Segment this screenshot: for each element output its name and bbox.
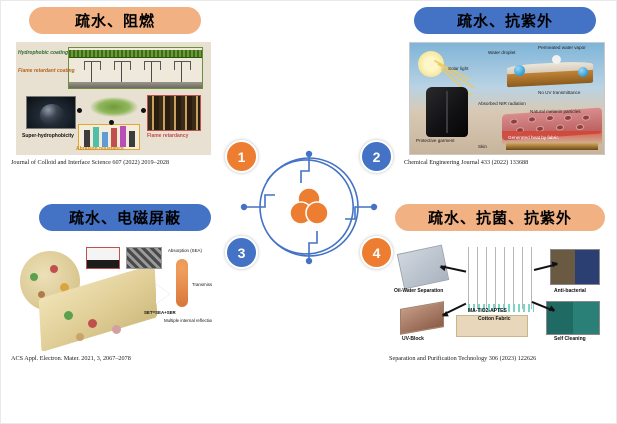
tr-label-generated-heat-by-fabric: Generated heat by fabric <box>508 136 559 141</box>
slide-canvas: 疏水、阻燃 Hydrophobic coating Flame retardan… <box>0 0 617 424</box>
tr-label-skin: Skin <box>478 145 487 150</box>
bl-sem-photo <box>126 247 162 269</box>
tl-label-super-hydrophobicity: Super-hydrophobicity <box>22 134 74 139</box>
br-label-material-name: MA-TiO2-APTES <box>468 309 507 314</box>
tr-melanin-particle <box>556 124 564 131</box>
citation-top-left: Journal of Colloid and Interface Science… <box>11 159 221 166</box>
tr-melanin-particle <box>528 116 536 123</box>
br-label-anti-bacterial: Anti-bacterial <box>554 289 586 294</box>
tl-chart-bar <box>111 128 117 147</box>
bl-process-arrow-icon <box>156 284 170 304</box>
br-label-uv-block: UV-Block <box>402 337 424 342</box>
panel-top-left: 疏水、阻燃 Hydrophobic coating Flame retardan… <box>11 7 221 202</box>
br-label-self-cleaning: Self Cleaning <box>554 337 586 342</box>
hub-number-badge-4[interactable]: 4 <box>360 236 393 269</box>
tl-coating-schematic <box>68 47 203 89</box>
panel-title-badge-top-left: 疏水、阻燃 <box>29 7 201 34</box>
hub-node-dot-bottom <box>306 258 312 264</box>
tl-molecule-icon <box>151 62 152 82</box>
tr-label-absorbed-nir-radiation: Absorbed NIR radiation <box>478 102 526 107</box>
citation-bottom-left: ACS Appl. Electron. Mater. 2021, 3, 2067… <box>11 355 221 362</box>
bl-label-multiple-internal-reflection: Multiple internal reflection <box>164 319 212 323</box>
tr-melanin-particle <box>582 114 590 121</box>
br-molecular-structure <box>468 247 534 309</box>
tl-molecule-icon <box>181 62 182 82</box>
hub-connector-right <box>345 207 373 219</box>
tl-label-flame-retardant-coating: Flame retardant coating <box>18 69 75 74</box>
tl-water-droplet-photo <box>26 96 76 129</box>
br-label-oil-water-separation: Oil-Water Separation <box>394 289 443 294</box>
tl-chart-bar <box>102 132 108 147</box>
bl-shielding-stack <box>176 259 188 307</box>
bl-contact-angle-photo <box>86 247 120 269</box>
tl-substrate-layer <box>69 82 202 88</box>
br-label-material-substrate: Cotton Fabric <box>478 317 511 322</box>
tl-link-node <box>141 108 146 113</box>
panel-bottom-right: 疏水、抗菌、抗紫外 Oil-Water Separation Anti-bact… <box>389 204 610 402</box>
br-uv-block-image <box>400 301 444 335</box>
panel-title-badge-bottom-left: 疏水、电磁屏蔽 <box>39 204 211 231</box>
tr-skin-layer <box>506 143 598 150</box>
tl-molecule-icon <box>121 62 122 82</box>
tl-hydrophobic-layer <box>69 50 202 58</box>
hub-number-badge-3[interactable]: 3 <box>225 236 258 269</box>
tr-water-bead <box>578 67 588 77</box>
bl-particle <box>50 265 58 273</box>
hub-node-dot-left <box>241 204 247 210</box>
tr-melanin-particle <box>576 124 584 131</box>
tl-flame-test-photo <box>147 95 201 131</box>
bl-particle <box>64 311 73 320</box>
tr-melanin-particle <box>546 115 554 122</box>
panel-bottom-left: 疏水、电磁屏蔽 Absorption (SEA) Transmission Mu… <box>11 204 221 402</box>
tl-label-hydrophobic-coating: Hydrophobic coating <box>18 51 68 56</box>
citation-bottom-right: Separation and Purification Technology 3… <box>389 355 610 362</box>
tl-link-node <box>77 108 82 113</box>
br-arrow-to-uv-block <box>442 303 466 316</box>
tr-label-permeated-water-vapor: Permeated water vapor <box>538 46 586 51</box>
tl-chart-bar <box>120 126 126 147</box>
figure-hydrophobic-uv-resistant: Solar light Water droplet Permeated wate… <box>409 42 605 155</box>
tl-chart-bar <box>129 131 135 147</box>
center-hub-diagram: 1 2 3 4 <box>223 133 395 281</box>
tr-label-protective-garment: Protective garment <box>416 139 455 144</box>
panel-title-badge-bottom-right: 疏水、抗菌、抗紫外 <box>395 204 605 231</box>
hub-node-dot-top <box>306 151 312 157</box>
tl-link-node <box>109 120 114 125</box>
figure-hydrophobic-antibacterial-uv: Oil-Water Separation Anti-bacterial UV-B… <box>394 239 606 351</box>
bl-particle <box>76 333 84 341</box>
panel-top-right: 疏水、抗紫外 Solar <box>404 7 610 202</box>
hub-node-dot-right <box>371 204 377 210</box>
tl-label-flame-retardancy: Flame retardancy <box>147 134 188 139</box>
bl-particle <box>30 273 38 281</box>
tl-fiber-cluster-image <box>90 97 138 117</box>
tr-label-no-uv-transmittance: No UV transmittance <box>538 91 580 96</box>
tr-melanin-particle <box>510 118 518 125</box>
tr-label-solar-light: Solar light <box>448 67 468 72</box>
tl-label-abrasion-resistance: Abrasion resistance <box>76 147 124 152</box>
hub-number-badge-1[interactable]: 1 <box>225 140 258 173</box>
tr-label-water-droplet: Water droplet <box>488 51 515 56</box>
bl-particle <box>112 325 121 334</box>
tl-molecule-icon <box>91 62 92 82</box>
panel-title-badge-top-right: 疏水、抗紫外 <box>414 7 596 34</box>
bl-label-absorption: Absorption (SEA) <box>168 249 202 253</box>
citation-top-right: Chemical Engineering Journal 433 (2022) … <box>404 159 610 166</box>
tr-vapor-bead <box>552 55 561 64</box>
tr-melanin-particle <box>564 115 572 122</box>
br-anti-bacterial-image <box>550 249 600 285</box>
tl-chart-bar <box>93 127 99 147</box>
bl-label-transmission: Transmission <box>192 283 212 287</box>
venn-three-circles-logo <box>290 188 328 224</box>
figure-hydrophobic-flame-retardant: Hydrophobic coating Flame retardant coat… <box>16 42 211 155</box>
figure-hydrophobic-emi-shielding: Absorption (SEA) Transmission Multiple i… <box>16 239 212 351</box>
bl-particle <box>88 319 97 328</box>
bl-label-shielding-equation: SET=SEA+SER <box>144 311 176 315</box>
protective-garment-image <box>426 87 468 137</box>
tl-chart-bar <box>84 130 90 147</box>
tr-label-natural-melanin-particles: Natural melanin particles <box>530 110 581 115</box>
tr-water-bead <box>514 65 525 76</box>
hub-number-badge-2[interactable]: 2 <box>360 140 393 173</box>
